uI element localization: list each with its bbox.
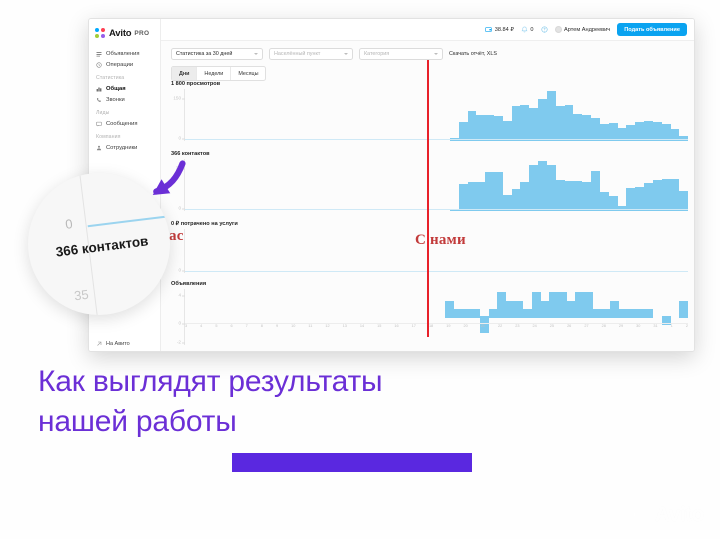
help-circle-icon <box>541 26 548 33</box>
headline-line-2: нашей работы <box>38 402 508 442</box>
x-tick: 16 <box>394 324 398 328</box>
bar-chart-icon <box>96 86 102 92</box>
chart-plot: 4 0 -2 <box>171 289 688 345</box>
bar <box>626 188 635 211</box>
headline-line-1: Как выглядят результаты <box>38 362 508 402</box>
arrow-icon <box>144 160 186 202</box>
bar <box>485 172 494 211</box>
baseline <box>185 209 688 210</box>
main-panel: 38.84 ₽ 0 <box>161 19 694 351</box>
bar <box>645 309 654 318</box>
bar <box>619 309 628 318</box>
bar <box>582 115 591 141</box>
bar <box>627 309 636 318</box>
x-tick: 11 <box>308 324 312 328</box>
topbar: 38.84 ₽ 0 <box>161 19 694 41</box>
x-tick: 24 <box>533 324 537 328</box>
x-tick: 2 <box>686 324 688 328</box>
phone-icon <box>96 97 102 103</box>
bar <box>601 309 610 318</box>
sidebar-section-statistika: Статистика <box>89 70 160 83</box>
watermark-text: Avito <box>655 503 704 527</box>
y-tick: 0 <box>178 136 181 141</box>
bell-icon <box>521 26 528 33</box>
bar <box>593 309 602 318</box>
bar <box>520 182 529 211</box>
bar <box>515 301 524 318</box>
x-tick: 19 <box>446 324 450 328</box>
x-tick: 4 <box>200 324 202 328</box>
filters-row: Статистика за 30 дней Населённый пункт К… <box>161 41 694 60</box>
bar <box>494 116 503 141</box>
chart-plot: 35 0 <box>171 159 688 211</box>
x-tick: 18 <box>429 324 433 328</box>
y-tick: 0 <box>178 268 181 273</box>
bar <box>541 301 550 318</box>
notifications-count: 0 <box>530 27 533 33</box>
chart-title: Объявления <box>171 281 688 287</box>
bar <box>532 292 541 318</box>
bar <box>662 179 671 211</box>
chart-title: 0 ₽ потрачено на услуги <box>171 221 688 227</box>
sidebar-item-label: Сотрудники <box>106 145 137 151</box>
bar <box>512 189 521 211</box>
x-tick: 13 <box>343 324 347 328</box>
bar <box>463 309 472 318</box>
sidebar-footer-na-avito[interactable]: На Авито <box>89 341 160 347</box>
bar <box>476 182 485 211</box>
bar <box>556 106 565 141</box>
x-tick: 31 <box>653 324 657 328</box>
period-divider <box>427 60 429 337</box>
x-tick: 30 <box>636 324 640 328</box>
bar <box>558 292 567 318</box>
bar <box>573 181 582 211</box>
bar <box>538 99 547 141</box>
sidebar-item-operatsii[interactable]: Операции <box>89 59 160 70</box>
avito-pro-logo[interactable]: Avito PRO <box>89 19 160 39</box>
x-axis: 3456789101112131415161718192021222324252… <box>185 323 688 332</box>
category-select[interactable]: Категория <box>359 48 443 60</box>
chart-views: 1 800 просмотров 150 0 <box>171 81 688 145</box>
avito-watermark: Avito <box>634 503 704 527</box>
bar <box>565 105 574 141</box>
bar <box>573 114 582 141</box>
x-tick: 17 <box>412 324 416 328</box>
sidebar-nav: Объявления Операции Статистика Общая <box>89 48 160 153</box>
bar <box>529 165 538 211</box>
bar <box>610 301 619 318</box>
sidebar-section-kompaniya: Компания <box>89 129 160 142</box>
tab-nedeli[interactable]: Недели <box>197 67 231 80</box>
chevron-down-icon <box>254 53 258 55</box>
y-tick: 150 <box>173 96 181 101</box>
x-tick: 29 <box>619 324 623 328</box>
bar <box>556 180 565 211</box>
x-tick: 10 <box>291 324 295 328</box>
label-s-nami: С нами <box>415 232 466 249</box>
bar <box>468 182 477 211</box>
chart-contacts: 366 контактов 35 0 <box>171 151 688 215</box>
period-select-value: Статистика за 30 дней <box>176 51 232 57</box>
y-axis: 4 0 -2 <box>171 289 185 345</box>
baseline <box>185 139 688 140</box>
period-select[interactable]: Статистика за 30 дней <box>171 48 263 60</box>
download-report-link[interactable]: Скачать отчёт, XLS <box>449 51 497 57</box>
balance-value: 38.84 ₽ <box>495 27 514 33</box>
x-tick: 8 <box>261 324 263 328</box>
brand-suffix: PRO <box>134 30 149 37</box>
x-tick: 3 <box>185 324 187 328</box>
x-tick: 21 <box>481 324 485 328</box>
tab-mesyatsy[interactable]: Месяцы <box>231 67 265 80</box>
clock-icon <box>96 62 102 68</box>
bar <box>503 121 512 141</box>
balance-indicator[interactable]: 38.84 ₽ <box>485 26 514 33</box>
bar <box>636 309 645 318</box>
y-tick: -2 <box>177 340 181 345</box>
x-tick: 6 <box>230 324 232 328</box>
bar <box>644 121 653 141</box>
chart-title: 1 800 просмотров <box>171 81 688 87</box>
category-select-value: Категория <box>364 51 389 57</box>
bar <box>679 301 688 318</box>
bar <box>565 181 574 211</box>
bar <box>547 91 556 141</box>
bar <box>476 115 485 141</box>
x-tick: 22 <box>498 324 502 328</box>
bar <box>547 165 556 211</box>
y-tick: 0 <box>178 206 181 211</box>
wallet-icon <box>485 26 492 33</box>
bars-series-contacts <box>185 159 688 211</box>
bar <box>591 171 600 211</box>
locality-select[interactable]: Населённый пункт <box>269 48 353 60</box>
x-tick: 7 <box>246 324 248 328</box>
bar <box>512 106 521 141</box>
baseline <box>185 271 688 272</box>
poster-root: Avito PRO Объявления Операции Статистика <box>0 0 720 539</box>
chart-title: 366 контактов <box>171 151 688 157</box>
bar <box>584 292 593 318</box>
bar <box>523 309 532 318</box>
granularity-tabs: Дни Недели Месяцы <box>171 66 266 81</box>
sidebar-item-label: Операции <box>106 62 133 68</box>
people-icon <box>96 145 102 151</box>
bar <box>582 182 591 211</box>
bar <box>454 309 463 318</box>
sidebar-item-zvonki[interactable]: Звонки <box>89 94 160 105</box>
bar <box>506 301 515 318</box>
notifications-indicator[interactable]: 0 <box>521 26 534 33</box>
bar <box>549 292 558 318</box>
sidebar-footer-label: На Авито <box>106 341 130 347</box>
bar <box>497 292 506 318</box>
chart-plot: 150 0 <box>171 89 688 141</box>
x-tick: 27 <box>584 324 588 328</box>
x-tick: 9 <box>276 324 278 328</box>
locality-select-value: Населённый пункт <box>274 51 320 57</box>
list-icon <box>96 51 102 57</box>
x-tick: 5 <box>215 324 217 328</box>
bar <box>494 172 503 211</box>
bar <box>635 187 644 211</box>
sidebar-section-lidy: Лиды <box>89 105 160 118</box>
bar <box>567 301 576 318</box>
avatar <box>555 26 562 33</box>
y-tick: 4 <box>178 293 181 298</box>
bar <box>520 105 529 141</box>
user-menu[interactable]: Артем Андреевич <box>555 26 611 33</box>
x-tick: 12 <box>325 324 329 328</box>
bar <box>459 184 468 211</box>
help-button[interactable] <box>541 26 548 33</box>
magnifier-tick-bottom: 35 <box>73 287 89 304</box>
chart-ads: Объявления 4 0 -2 <box>171 281 688 349</box>
x-tick: 20 <box>463 324 467 328</box>
sidebar-item-label: Сообщения <box>106 121 137 127</box>
bar <box>644 183 653 211</box>
bar <box>489 309 498 318</box>
chevron-down-icon <box>344 53 348 55</box>
tab-dni[interactable]: Дни <box>172 67 197 80</box>
sidebar-item-sotrudniki[interactable]: Сотрудники <box>89 142 160 153</box>
bar <box>671 179 680 211</box>
sidebar-item-obyavleniya[interactable]: Объявления <box>89 48 160 59</box>
x-tick: 14 <box>360 324 364 328</box>
y-axis: 150 0 <box>171 89 185 141</box>
x-tick: 15 <box>377 324 381 328</box>
bar <box>591 118 600 141</box>
sidebar-item-label: Общая <box>106 86 126 92</box>
bar <box>450 210 459 211</box>
x-tick: 25 <box>550 324 554 328</box>
x-tick: 28 <box>602 324 606 328</box>
bar <box>529 108 538 141</box>
sidebar-item-obshchaya[interactable]: Общая <box>89 83 160 94</box>
chevron-down-icon <box>434 53 438 55</box>
bar <box>538 161 547 211</box>
chat-icon <box>96 121 102 127</box>
accent-bar <box>232 453 472 472</box>
bars-series-ads <box>185 289 688 345</box>
user-name: Артем Андреевич <box>564 27 610 33</box>
magnifier-series-line <box>88 216 166 227</box>
sidebar-item-label: Объявления <box>106 51 140 57</box>
sidebar-item-label: Звонки <box>106 97 125 103</box>
bar <box>653 180 662 211</box>
magnifier-tick-top: 0 <box>64 216 73 232</box>
headline: Как выглядят результаты нашей работы <box>38 362 508 441</box>
x-tick: 26 <box>567 324 571 328</box>
external-link-icon <box>96 341 102 347</box>
bars-series-views <box>185 89 688 141</box>
bar <box>575 292 584 318</box>
bar <box>485 115 494 141</box>
bar <box>468 111 477 141</box>
x-tick: 1 <box>671 324 673 328</box>
sidebar-item-soobshcheniya[interactable]: Сообщения <box>89 118 160 129</box>
submit-ad-button[interactable]: Подать объявление <box>617 23 687 36</box>
avito-logo-icon <box>95 28 106 39</box>
bar <box>471 309 480 318</box>
y-tick: 0 <box>178 321 181 326</box>
x-tick: 23 <box>515 324 519 328</box>
bar <box>445 301 454 318</box>
brand-name: Avito <box>109 28 131 39</box>
avito-logo-icon <box>634 507 651 524</box>
